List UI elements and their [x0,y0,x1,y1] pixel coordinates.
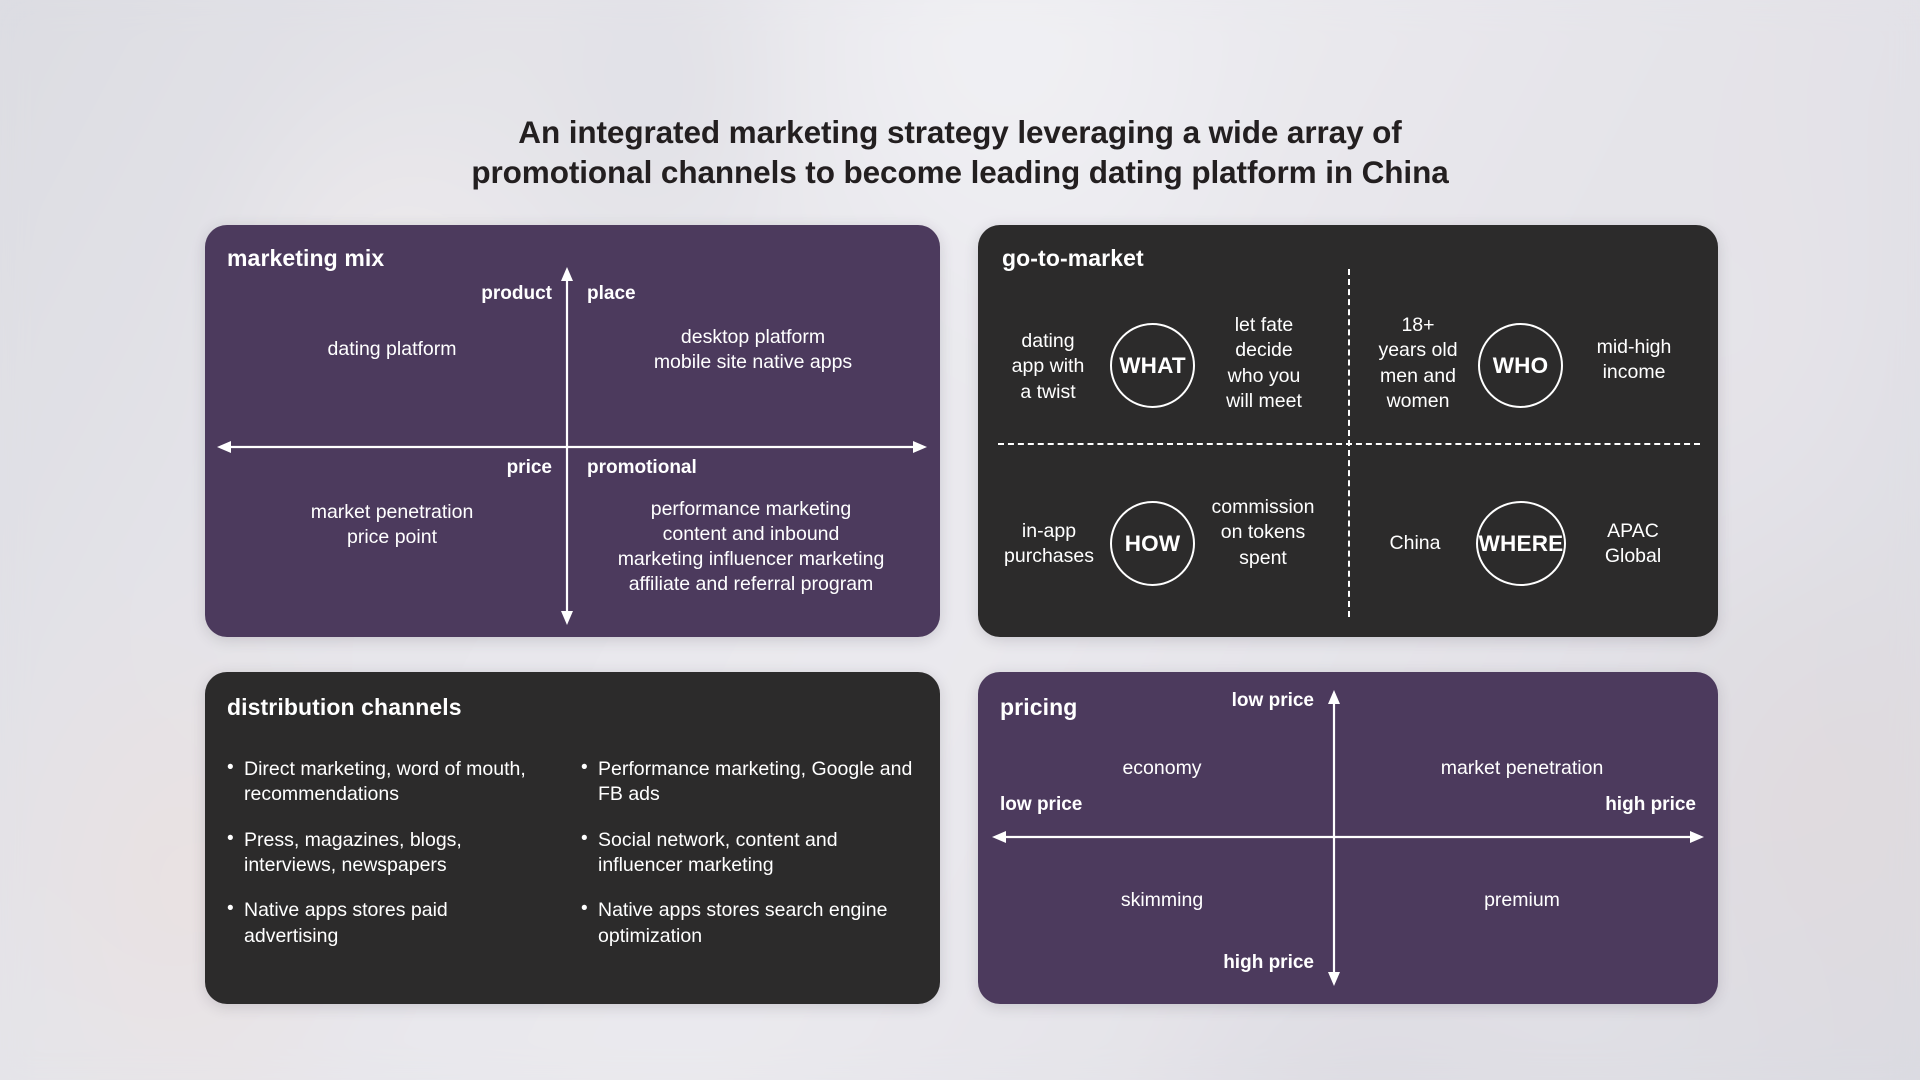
marketing-mix-content-price: market penetration price point [227,500,557,550]
pricing-axis-label-left: low price [1000,794,1082,816]
go-to-market-circle-where: WHERE [1476,501,1566,586]
list-item: Native apps stores paid advertising [227,898,537,949]
distribution-channels-left-column: Direct marketing, word of mouth, recomme… [227,757,537,969]
marketing-mix-content-product: dating platform [227,337,557,362]
list-item: Direct marketing, word of mouth, recomme… [227,757,537,808]
go-to-market-who-right: mid-high income [1568,335,1700,386]
panel-distribution-channels: distribution channels Direct marketing, … [205,672,940,1004]
panel-go-to-market: go-to-market WHAT dating app with a twis… [978,225,1718,637]
list-item: Press, magazines, blogs, interviews, new… [227,828,537,879]
list-item: Performance marketing, Google and FB ads [581,757,917,808]
go-to-market-title: go-to-market [1002,245,1144,272]
list-item: Social network, content and influencer m… [581,828,917,879]
pricing-content-economy: economy [1002,756,1322,781]
pricing-content-skimming: skimming [1002,888,1322,913]
panel-marketing-mix: marketing mix [205,225,940,637]
marketing-mix-label-product: product [481,283,552,305]
pricing-axis-label-bottom: high price [1223,952,1314,974]
go-to-market-circle-what: WHAT [1110,323,1195,408]
go-to-market-what-left: dating app with a twist [990,329,1106,405]
go-to-market-circle-who: WHO [1478,323,1563,408]
go-to-market-where-left: China [1360,531,1470,556]
pricing-content-market-penetration: market penetration [1350,756,1694,781]
list-item: Native apps stores search engine optimiz… [581,898,917,949]
distribution-channels-right-column: Performance marketing, Google and FB ads… [581,757,917,969]
page-title: An integrated marketing strategy leverag… [0,112,1920,192]
pricing-axis-label-top: low price [1232,690,1314,712]
marketing-mix-content-promotional: performance marketing content and inboun… [577,497,925,598]
go-to-market-where-right: APAC Global [1570,519,1696,570]
go-to-market-who-left: 18+ years old men and women [1362,313,1474,414]
marketing-mix-content-place: desktop platform mobile site native apps [587,325,919,375]
pricing-axes [978,672,1718,1004]
go-to-market-how-left: in-app purchases [990,519,1108,570]
distribution-channels-title: distribution channels [227,694,462,721]
go-to-market-circle-how: HOW [1110,501,1195,586]
marketing-mix-label-promotional: promotional [587,457,697,479]
pricing-axis-label-right: high price [1605,794,1696,816]
marketing-mix-label-place: place [587,283,636,305]
title-line-2: promotional channels to become leading d… [0,152,1920,192]
marketing-mix-label-price: price [507,457,552,479]
go-to-market-what-right: let fate decide who you will meet [1200,313,1328,414]
pricing-title: pricing [1000,694,1077,721]
pricing-content-premium: premium [1350,888,1694,913]
go-to-market-how-right: commission on tokens spent [1198,495,1328,571]
slide-canvas: An integrated marketing strategy leverag… [0,0,1920,1080]
go-to-market-divider-horizontal [998,443,1700,445]
marketing-mix-title: marketing mix [227,245,384,272]
panel-pricing: pricing low price high price low price h… [978,672,1718,1004]
title-line-1: An integrated marketing strategy leverag… [0,112,1920,152]
